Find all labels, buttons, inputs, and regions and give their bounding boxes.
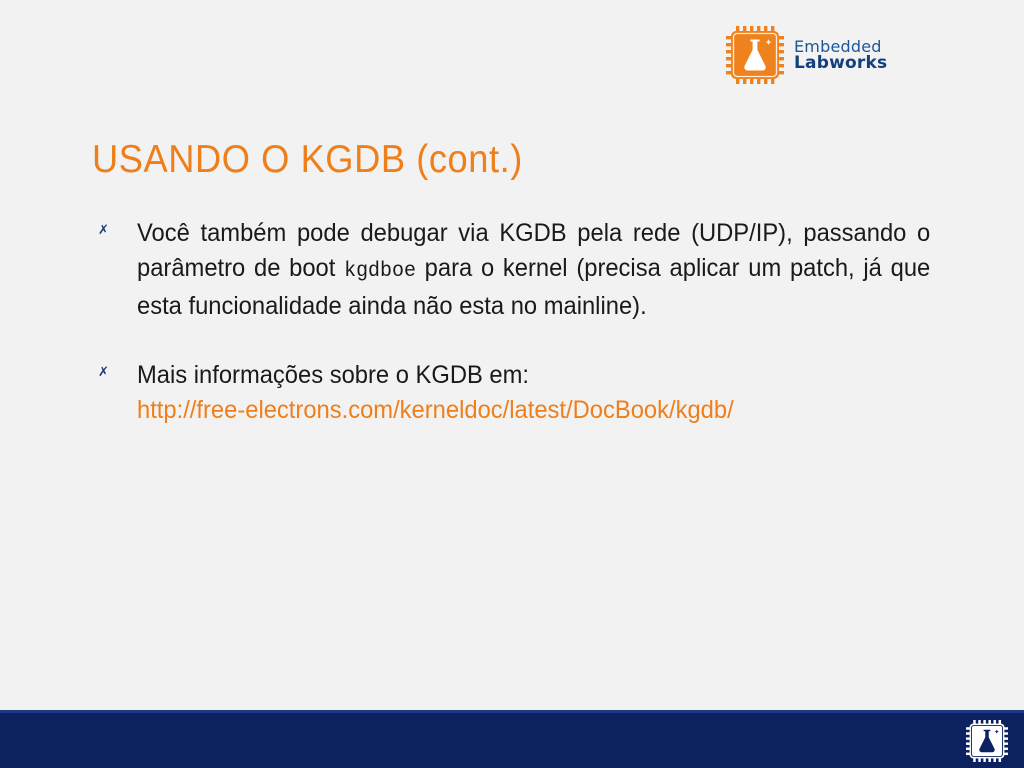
bullet-paragraph: Você também pode debugar via KGDB pela r…	[137, 216, 930, 324]
page-title: USANDO O KGDB (cont.)	[92, 138, 523, 182]
slide-content: ✗ Você também pode debugar via KGDB pela…	[92, 216, 972, 428]
bullet-marker-icon: ✗	[98, 224, 109, 237]
chip-flask-logo-icon-inverted	[966, 720, 1008, 762]
bullet-marker-icon: ✗	[98, 366, 109, 379]
list-item: ✗ Mais informações sobre o KGDB em: http…	[92, 358, 972, 428]
footer-bar	[0, 710, 1024, 768]
kgdb-doc-link[interactable]: http://free-electrons.com/kerneldoc/late…	[137, 393, 930, 428]
boot-parameter-code: kgdboe	[344, 260, 416, 283]
slide-canvas: Embedded Labworks USANDO O KGDB (cont.) …	[0, 0, 1024, 768]
bullet-text: Mais informações sobre o KGDB em:	[137, 361, 529, 389]
chip-flask-logo-icon	[726, 26, 784, 84]
brand-wordmark: Embedded Labworks	[794, 37, 887, 73]
list-item: ✗ Você também pode debugar via KGDB pela…	[92, 216, 972, 324]
bullet-paragraph: Mais informações sobre o KGDB em: http:/…	[137, 358, 930, 428]
brand-logo: Embedded Labworks	[726, 26, 887, 84]
brand-line-labworks: Labworks	[794, 55, 887, 72]
